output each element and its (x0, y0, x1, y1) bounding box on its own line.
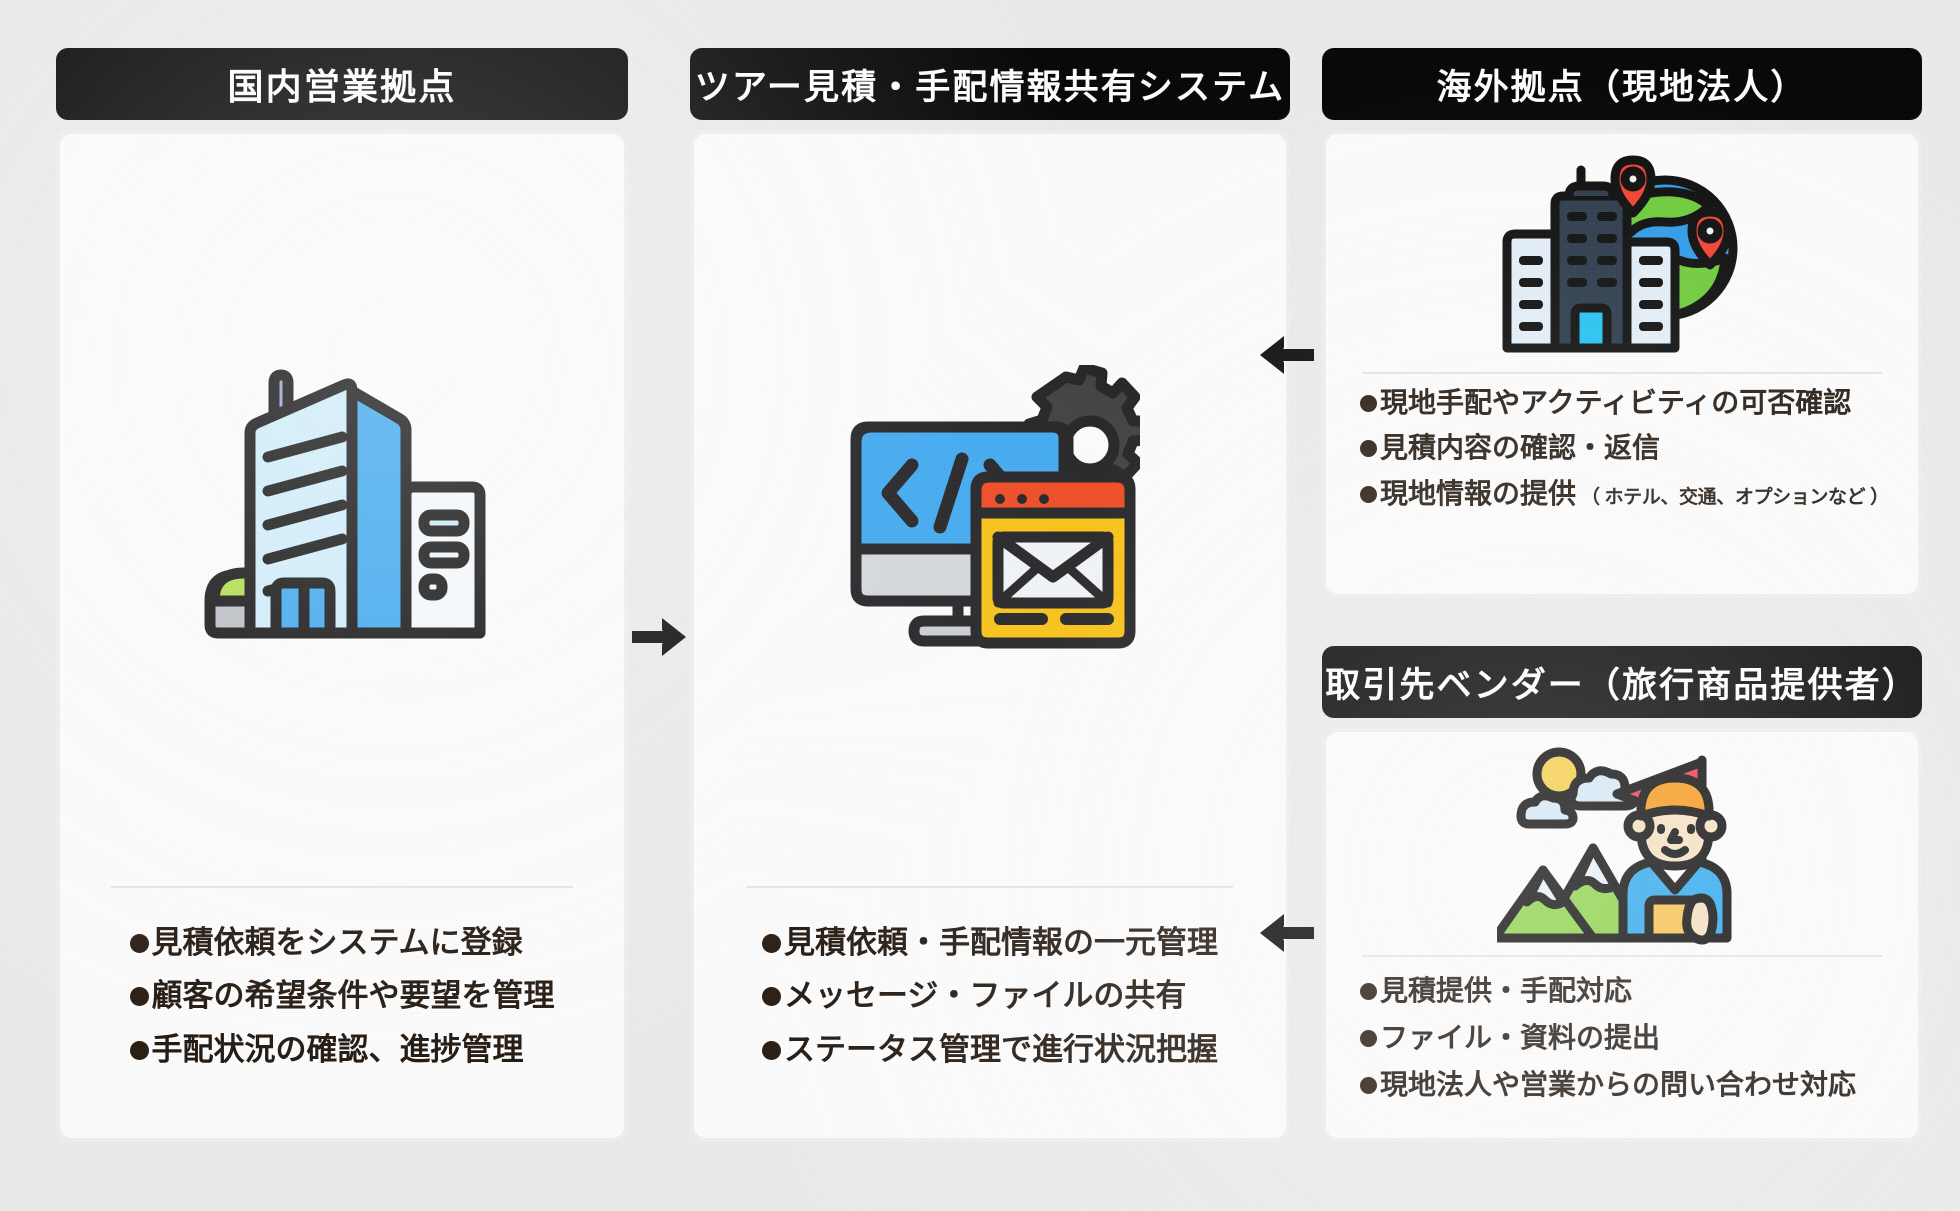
bullet-list-system: 見積依頼・手配情報の一元管理 メッセージ・ファイルの共有 ステータス管理で進行状… (762, 916, 1218, 1076)
bullet-dot-icon (1360, 395, 1377, 412)
bullet-item: ステータス管理で進行状況把握 (762, 1023, 1218, 1076)
bullet-item: ファイル・資料の提出 (1360, 1014, 1856, 1061)
bullet-dot-icon (762, 934, 781, 953)
bullet-item: 見積内容の確認・返信 (1360, 425, 1889, 470)
card-domestic-sales-office: 国内営業拠点 (56, 48, 628, 1142)
icon-zone-vendor (1326, 740, 1918, 955)
card-header-domestic: 国内営業拠点 (56, 48, 628, 120)
bullet-text: 見積依頼・手配情報の一元管理 (784, 916, 1218, 969)
card-header-domestic-label: 国内営業拠点 (228, 58, 457, 110)
office-building-icon (192, 365, 492, 655)
arrow-vendor-to-system (1258, 908, 1314, 963)
diagram-canvas: 国内営業拠点 (0, 0, 1960, 1211)
bullet-item: 現地情報の提供（ ホテル、交通、オプションなど ） (1360, 471, 1889, 516)
card-tour-quote-system: ツアー見積・手配情報共有システム (690, 48, 1290, 1142)
bullet-text: ステータス管理で進行状況把握 (784, 1023, 1218, 1076)
bullet-item: メッセージ・ファイルの共有 (762, 969, 1218, 1022)
bullet-item: 顧客の希望条件や要望を管理 (130, 969, 555, 1022)
bullet-item: 見積提供・手配対応 (1360, 967, 1856, 1014)
card-header-vendor: 取引先ベンダー（旅行商品提供者） (1322, 646, 1922, 718)
bullet-list-vendor: 見積提供・手配対応 ファイル・資料の提出 現地法人や営業からの問い合わせ対応 (1326, 967, 1856, 1108)
card-header-system: ツアー見積・手配情報共有システム (690, 48, 1290, 120)
card-body-domestic: 見積依頼をシステムに登録 顧客の希望条件や要望を管理 手配状況の確認、進捗管理 (56, 130, 628, 1142)
bullet-text: 手配状況の確認、進捗管理 (152, 1023, 524, 1076)
divider-system (747, 886, 1232, 888)
bullet-dot-icon (1360, 1077, 1377, 1094)
traveler-mountain-flag-icon (1497, 740, 1747, 955)
arrow-overseas-to-system (1258, 330, 1314, 385)
divider-vendor (1362, 955, 1883, 957)
bullet-text: 見積内容の確認・返信 (1380, 425, 1660, 470)
bullet-dot-icon (762, 1041, 781, 1060)
card-body-vendor: 見積提供・手配対応 ファイル・資料の提出 現地法人や営業からの問い合わせ対応 (1322, 728, 1922, 1142)
system-monitor-gear-mail-icon (840, 365, 1140, 655)
bullet-dot-icon (1360, 983, 1377, 1000)
card-header-overseas: 海外拠点（現地法人） (1322, 48, 1922, 120)
bullet-item: 見積依頼をシステムに登録 (130, 916, 555, 969)
bullet-dot-icon (1360, 486, 1377, 503)
bullet-note: （ ホテル、交通、オプションなど ） (1581, 483, 1889, 514)
bullet-item: 手配状況の確認、進捗管理 (130, 1023, 555, 1076)
bullet-list-domestic: 見積依頼をシステムに登録 顧客の希望条件や要望を管理 手配状況の確認、進捗管理 (130, 916, 555, 1076)
overseas-office-globe-icon (1497, 150, 1747, 365)
card-body-system: 見積依頼・手配情報の一元管理 メッセージ・ファイルの共有 ステータス管理で進行状… (690, 130, 1290, 1142)
card-header-overseas-label: 海外拠点（現地法人） (1436, 59, 1807, 110)
divider-overseas (1362, 372, 1883, 374)
bullet-dot-icon (1360, 1030, 1377, 1047)
bullet-item: 現地手配やアクティビティの可否確認 (1360, 380, 1889, 425)
card-body-overseas: 現地手配やアクティビティの可否確認 見積内容の確認・返信 現地情報の提供（ ホテ… (1322, 130, 1922, 598)
bullet-dot-icon (130, 934, 149, 953)
bullet-text: 見積提供・手配対応 (1380, 967, 1632, 1014)
card-vendor-partner: 取引先ベンダー（旅行商品提供者） (1322, 646, 1922, 1142)
bullet-text: 現地法人や営業からの問い合わせ対応 (1380, 1061, 1856, 1108)
card-header-vendor-label: 取引先ベンダー（旅行商品提供者） (1325, 657, 1919, 708)
card-overseas-office: 海外拠点（現地法人） (1322, 48, 1922, 598)
divider-domestic (111, 886, 573, 888)
bullet-dot-icon (762, 987, 781, 1006)
bullet-item: 現地法人や営業からの問い合わせ対応 (1360, 1061, 1856, 1108)
bullet-list-overseas: 現地手配やアクティビティの可否確認 見積内容の確認・返信 現地情報の提供（ ホテ… (1326, 380, 1889, 516)
arrow-domestic-to-system (632, 612, 688, 667)
icon-zone-domestic (60, 134, 624, 886)
bullet-text: 現地情報の提供 (1380, 471, 1576, 516)
bullet-text: メッセージ・ファイルの共有 (784, 969, 1186, 1022)
icon-zone-overseas (1326, 142, 1918, 372)
card-header-system-label: ツアー見積・手配情報共有システム (695, 59, 1285, 110)
bullet-text: ファイル・資料の提出 (1380, 1014, 1660, 1061)
icon-zone-system (694, 134, 1286, 886)
bullet-dot-icon (130, 987, 149, 1006)
bullet-dot-icon (130, 1041, 149, 1060)
bullet-text: 見積依頼をシステムに登録 (152, 916, 523, 969)
bullet-text: 顧客の希望条件や要望を管理 (152, 969, 555, 1022)
bullet-item: 見積依頼・手配情報の一元管理 (762, 916, 1218, 969)
bullet-dot-icon (1360, 440, 1377, 457)
bullet-text: 現地手配やアクティビティの可否確認 (1380, 380, 1851, 425)
